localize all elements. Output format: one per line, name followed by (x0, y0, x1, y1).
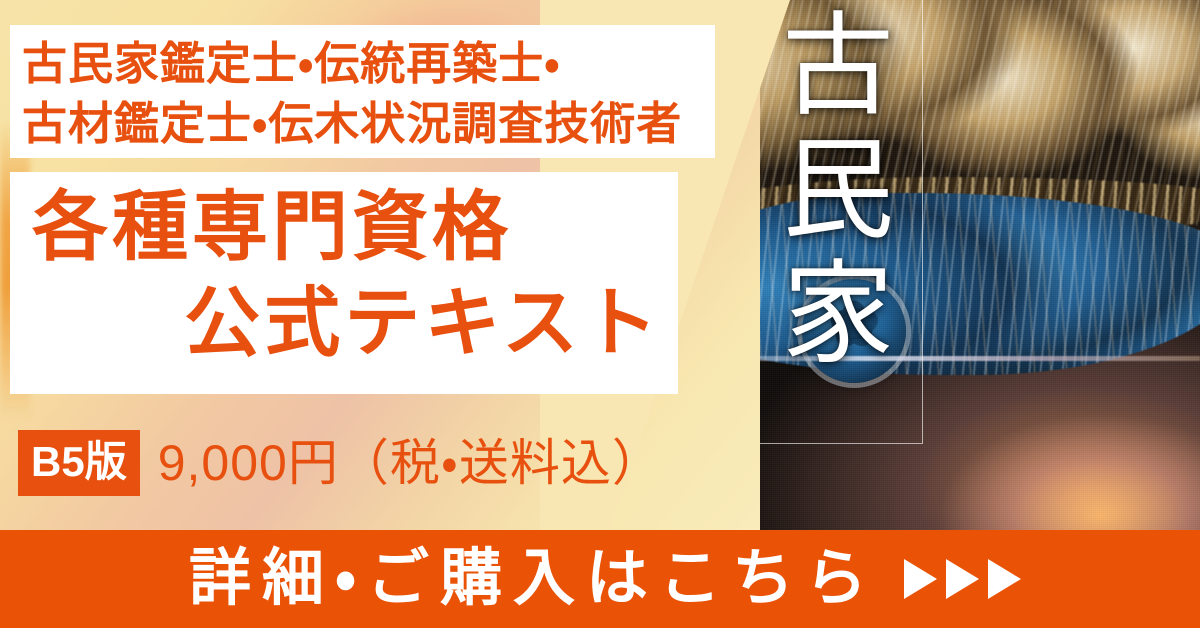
cta-arrows (904, 559, 1021, 599)
format-badge: B5版 (18, 430, 140, 496)
headline-line-2: 古材鑑定士・伝木状況調査技術者 (10, 94, 715, 154)
cover-title-vertical: 古民家 (782, 6, 898, 446)
book-cover-image: 古民家 伝統構法 古民家活用のための調査と再生の (690, 0, 1200, 536)
headline-panel: 古民家鑑定士・伝統再築士・ 古材鑑定士・伝木状況調査技術者 (10, 25, 715, 158)
promo-banner: 古民家 伝統構法 古民家活用のための調査と再生の 古民家鑑定士・伝統再築士・ 古… (0, 0, 1200, 628)
main-title-line-1: 各種専門資格 (10, 172, 678, 266)
play-triangle-icon (988, 559, 1021, 599)
cta-label: 詳細・ご購入はこちら (179, 548, 878, 610)
price-amount: 9,000円（税・送料込） (158, 438, 663, 488)
play-triangle-icon (904, 559, 937, 599)
play-triangle-icon (946, 559, 979, 599)
main-title-line-2: 公式テキスト (10, 266, 678, 362)
main-title-panel: 各種専門資格 公式テキスト (10, 172, 678, 394)
cta-button-bar[interactable]: 詳細・ご購入はこちら (0, 530, 1200, 628)
headline-line-1: 古民家鑑定士・伝統再築士・ (10, 25, 715, 94)
price-row: B5版 9,000円（税・送料込） (18, 430, 663, 496)
